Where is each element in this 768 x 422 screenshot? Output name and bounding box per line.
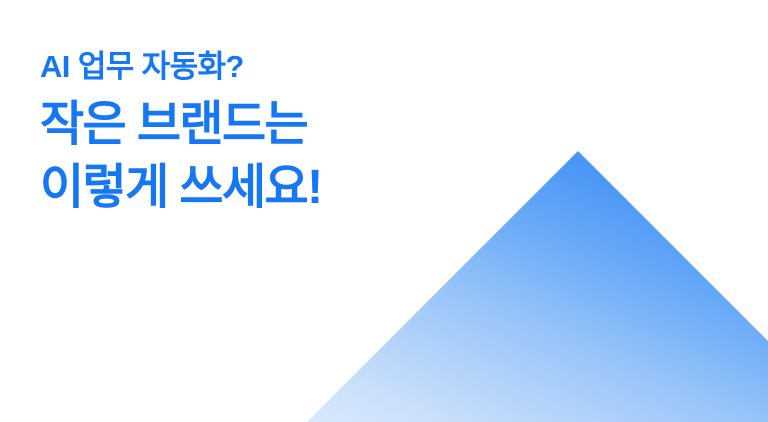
headline-eyebrow: AI 업무 자동화?	[40, 48, 520, 86]
promo-banner: AI 업무 자동화? 작은 브랜드는 이렇게 쓰세요!	[0, 0, 768, 422]
headline-line-1: 작은 브랜드는	[40, 94, 520, 156]
headline-line-2: 이렇게 쓰세요!	[40, 157, 520, 219]
headline-block: AI 업무 자동화? 작은 브랜드는 이렇게 쓰세요!	[40, 48, 520, 219]
